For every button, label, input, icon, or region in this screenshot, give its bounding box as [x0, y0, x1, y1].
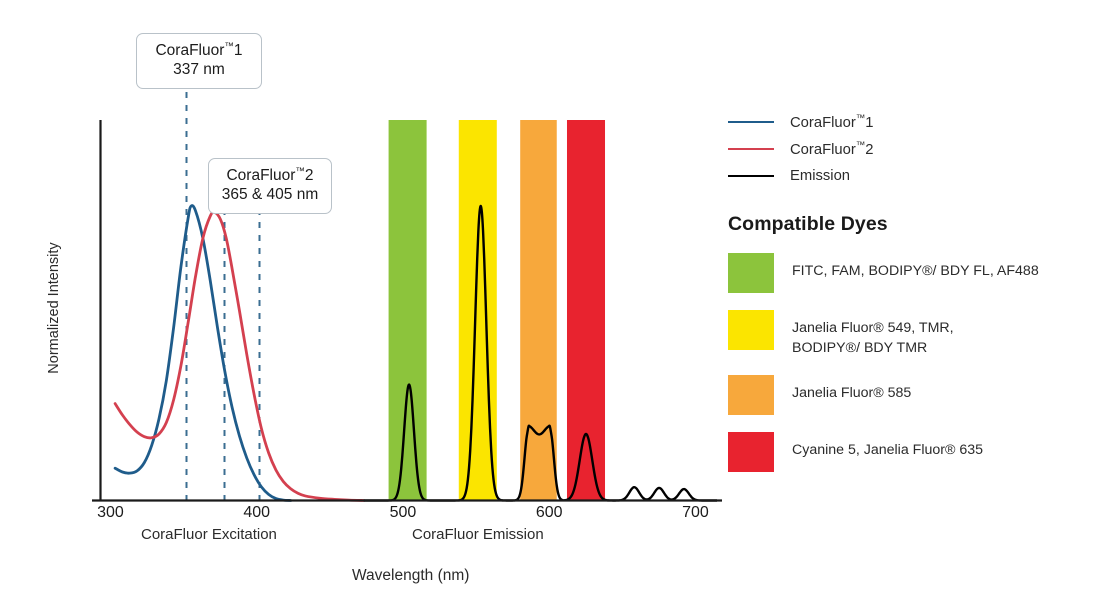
callout-1-line1: CoraFluor™1 [149, 41, 249, 61]
legend-item-label: Emission [790, 168, 850, 184]
x-tick-700: 700 [682, 504, 709, 522]
dye-color-swatch [728, 375, 774, 415]
dye-item-2[interactable]: Janelia Fluor® 549, TMR,BODIPY®/ BDY TMR [728, 310, 1100, 358]
y-axis-title: Normalized Intensity [46, 228, 62, 388]
section-label-excitation: CoraFluor Excitation [141, 526, 277, 543]
dye-item-label: Cyanine 5, Janelia Fluor® 635 [792, 432, 983, 461]
legend-label-suffix: 2 [865, 141, 873, 157]
callout-2-line2: 365 & 405 nm [221, 186, 319, 205]
legend-line-swatch [728, 121, 774, 123]
legend-line-swatch [728, 148, 774, 150]
trademark-icon: ™ [856, 113, 866, 124]
callout-2-line1: CoraFluor™2 [221, 166, 319, 186]
legend-item-1[interactable]: CoraFluor™1 [728, 108, 1100, 135]
compatible-dyes-heading: Compatible Dyes [728, 213, 1100, 236]
dye-item-label: Janelia Fluor® 585 [792, 375, 911, 404]
legend-label-text: CoraFluor [790, 141, 856, 157]
spectra-figure: CoraFluor™1 337 nm CoraFluor™2 365 & 405… [0, 0, 1110, 612]
dye-label-line1: Janelia Fluor® 549, TMR, [792, 320, 954, 336]
callout-1-line2: 337 nm [149, 61, 249, 80]
series-legend: CoraFluor™1CoraFluor™2Emission [728, 108, 1100, 189]
legend-item-label: CoraFluor™1 [790, 113, 874, 131]
dye-color-swatch [728, 253, 774, 293]
x-tick-500: 500 [390, 504, 417, 522]
callout-corafluor-1: CoraFluor™1 337 nm [136, 33, 262, 89]
x-tick-400: 400 [243, 504, 270, 522]
dye-label-line1: Cyanine 5, Janelia Fluor® 635 [792, 442, 983, 458]
dye-item-1[interactable]: FITC, FAM, BODIPY®/ BDY FL, AF488 [728, 253, 1100, 293]
dye-item-label: Janelia Fluor® 549, TMR,BODIPY®/ BDY TMR [792, 310, 954, 358]
callout-corafluor-2: CoraFluor™2 365 & 405 nm [208, 158, 332, 214]
dye-item-3[interactable]: Janelia Fluor® 585 [728, 375, 1100, 415]
detection-band-1 [389, 120, 427, 501]
x-tick-300: 300 [97, 504, 124, 522]
legend-item-label: CoraFluor™2 [790, 140, 874, 158]
dye-item-4[interactable]: Cyanine 5, Janelia Fluor® 635 [728, 432, 1100, 472]
trademark-icon: ™ [295, 166, 305, 177]
curve-excitation-368 [115, 212, 364, 500]
legend-label-text: Emission [790, 168, 850, 184]
trademark-icon: ™ [224, 41, 234, 52]
right-panel: CoraFluor™1CoraFluor™2Emission Compatibl… [728, 108, 1100, 472]
x-axis-title: Wavelength (nm) [352, 567, 469, 585]
curve-excitation-352 [115, 206, 290, 501]
dye-color-swatch [728, 432, 774, 472]
dye-label-line1: FITC, FAM, BODIPY®/ BDY FL, AF488 [792, 263, 1039, 279]
detection-bands [389, 120, 605, 501]
dye-color-swatch [728, 310, 774, 350]
dye-label-line2: BODIPY®/ BDY TMR [792, 339, 954, 359]
section-label-emission: CoraFluor Emission [412, 526, 544, 543]
trademark-icon: ™ [856, 140, 866, 151]
legend-label-text: CoraFluor [790, 114, 856, 130]
detection-band-4 [567, 120, 605, 501]
legend-item-2[interactable]: CoraFluor™2 [728, 135, 1100, 162]
dye-item-label: FITC, FAM, BODIPY®/ BDY FL, AF488 [792, 253, 1039, 282]
dye-label-line1: Janelia Fluor® 585 [792, 385, 911, 401]
excitation-marker-lines [187, 92, 260, 501]
legend-line-swatch [728, 175, 774, 177]
compatible-dyes-list: FITC, FAM, BODIPY®/ BDY FL, AF488Janelia… [728, 253, 1100, 472]
legend-label-suffix: 1 [865, 114, 873, 130]
legend-item-3[interactable]: Emission [728, 162, 1100, 189]
x-tick-600: 600 [536, 504, 563, 522]
